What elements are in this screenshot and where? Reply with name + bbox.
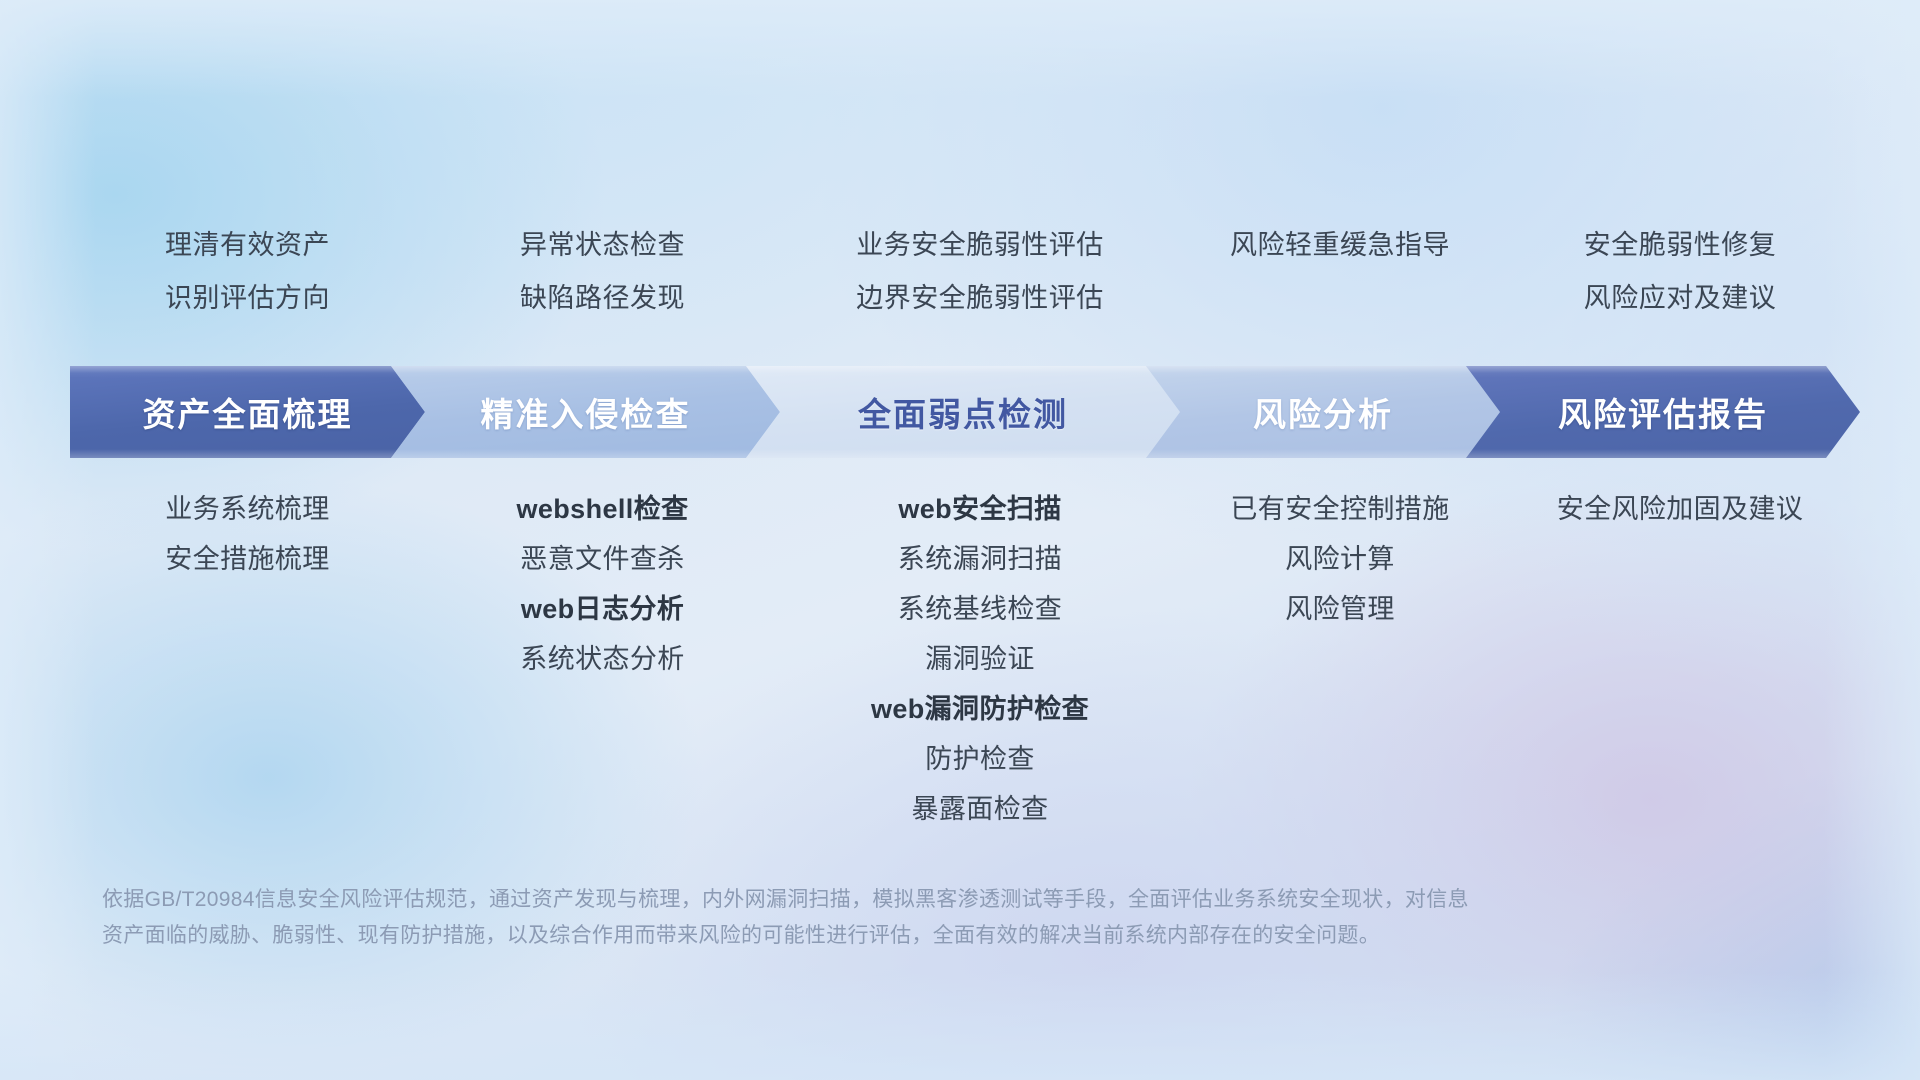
top-label: 风险应对及建议 (1584, 285, 1777, 312)
top-label: 缺陷路径发现 (520, 285, 685, 312)
process-chevron-band: 资产全面梳理精准入侵检查全面弱点检测风险分析风险评估报告 (70, 366, 1860, 458)
item-col-weakness-detection: web安全扫描系统漏洞扫描系统基线检查漏洞验证web漏洞防护检查防护检查暴露面检… (780, 496, 1180, 823)
chevron-label: 全面弱点检测 (858, 388, 1068, 436)
item-col-intrusion-check: webshell检查恶意文件查杀web日志分析系统状态分析 (425, 496, 780, 673)
top-label-col-asset-inventory: 理清有效资产识别评估方向 (70, 232, 425, 312)
chevron-label: 风险分析 (1253, 388, 1393, 436)
chevron-label: 资产全面梳理 (143, 388, 353, 436)
list-item: 系统漏洞扫描 (898, 546, 1062, 573)
bottom-item-row: 业务系统梳理安全措施梳理webshell检查恶意文件查杀web日志分析系统状态分… (70, 496, 1860, 823)
list-item: webshell检查 (516, 496, 688, 523)
list-item: 风险计算 (1285, 546, 1395, 573)
list-item: 安全风险加固及建议 (1557, 496, 1804, 523)
list-item: 系统状态分析 (520, 646, 684, 673)
chevron-label: 风险评估报告 (1558, 388, 1768, 436)
footer-line-2: 资产面临的威胁、脆弱性、现有防护措施，以及综合作用而带来风险的可能性进行评估，全… (102, 918, 1742, 954)
slide-canvas: 理清有效资产识别评估方向异常状态检查缺陷路径发现业务安全脆弱性评估边界安全脆弱性… (0, 0, 1920, 1080)
list-item: 漏洞验证 (925, 646, 1035, 673)
top-label-row: 理清有效资产识别评估方向异常状态检查缺陷路径发现业务安全脆弱性评估边界安全脆弱性… (70, 232, 1860, 312)
top-label: 风险轻重缓急指导 (1230, 232, 1450, 259)
list-item: web漏洞防护检查 (871, 696, 1089, 723)
top-label-col-risk-analysis: 风险轻重缓急指导 (1180, 232, 1500, 312)
list-item: 风险管理 (1285, 596, 1395, 623)
chevron-step-asset-inventory[interactable]: 资产全面梳理 (70, 366, 425, 458)
top-label-col-intrusion-check: 异常状态检查缺陷路径发现 (425, 232, 780, 312)
list-item: 已有安全控制措施 (1230, 496, 1449, 523)
list-item: 安全措施梳理 (165, 546, 329, 573)
footer-description: 依据GB/T20984信息安全风险评估规范，通过资产发现与梳理，内外网漏洞扫描，… (102, 882, 1742, 954)
list-item: 恶意文件查杀 (520, 546, 684, 573)
chevron-label: 精准入侵检查 (481, 388, 691, 436)
chevron-step-weakness-detection[interactable]: 全面弱点检测 (746, 366, 1180, 458)
list-item: web日志分析 (521, 596, 684, 623)
top-label: 业务安全脆弱性评估 (856, 232, 1104, 259)
list-item: 防护检查 (925, 746, 1035, 773)
list-item: web安全扫描 (898, 496, 1061, 523)
item-col-risk-analysis: 已有安全控制措施风险计算风险管理 (1180, 496, 1500, 623)
chevron-step-intrusion-check[interactable]: 精准入侵检查 (391, 366, 780, 458)
item-col-asset-inventory: 业务系统梳理安全措施梳理 (70, 496, 425, 573)
list-item: 业务系统梳理 (165, 496, 329, 523)
chevron-step-risk-report[interactable]: 风险评估报告 (1466, 366, 1860, 458)
item-col-risk-report: 安全风险加固及建议 (1500, 496, 1860, 523)
top-label-col-risk-report: 安全脆弱性修复风险应对及建议 (1500, 232, 1860, 312)
chevron-step-risk-analysis[interactable]: 风险分析 (1146, 366, 1500, 458)
top-label: 异常状态检查 (520, 232, 685, 259)
top-label: 边界安全脆弱性评估 (856, 285, 1104, 312)
top-label-col-weakness-detection: 业务安全脆弱性评估边界安全脆弱性评估 (780, 232, 1180, 312)
top-label: 理清有效资产 (165, 232, 330, 259)
list-item: 系统基线检查 (898, 596, 1062, 623)
top-label: 识别评估方向 (165, 285, 330, 312)
top-label: 安全脆弱性修复 (1584, 232, 1777, 259)
list-item: 暴露面检查 (912, 796, 1049, 823)
footer-line-1: 依据GB/T20984信息安全风险评估规范，通过资产发现与梳理，内外网漏洞扫描，… (102, 882, 1742, 918)
